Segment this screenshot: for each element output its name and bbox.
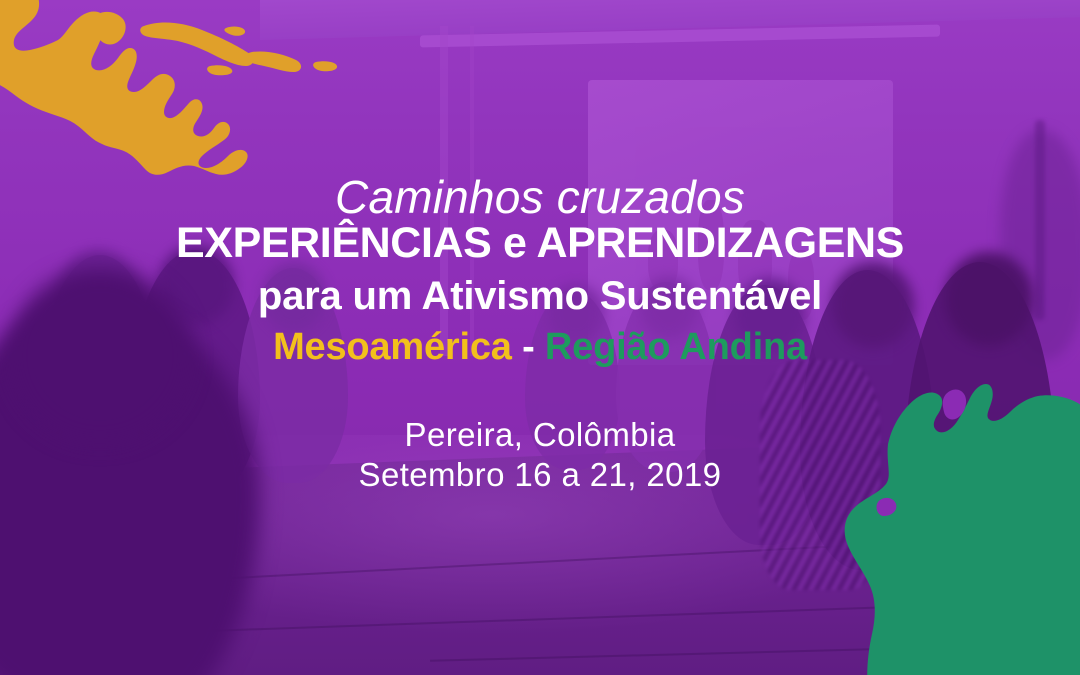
event-location: Pereira, Colômbia xyxy=(0,418,1080,451)
headline-line-1: Caminhos cruzados xyxy=(0,174,1080,220)
region-separator: - xyxy=(522,326,534,368)
region-andean-label: Região Andina xyxy=(545,326,807,368)
headline-line-2-part-2: APRENDIZAGENS xyxy=(536,219,904,267)
headline-line-2-part-1: EXPERIÊNCIAS xyxy=(176,219,491,267)
event-poster: Caminhos cruzados EXPERIÊNCIAS e APRENDI… xyxy=(0,0,1080,675)
region-mesoamerica-label: Mesoamérica xyxy=(273,326,512,368)
headline-line-2-conjunction: e xyxy=(503,219,527,267)
headline-line-3: para um Ativismo Sustentável xyxy=(0,276,1080,316)
regions-line: Mesoamérica - Região Andina xyxy=(0,328,1080,366)
event-dates: Setembro 16 a 21, 2019 xyxy=(0,458,1080,491)
headline-line-2: EXPERIÊNCIAS e APRENDIZAGENS xyxy=(0,222,1080,265)
